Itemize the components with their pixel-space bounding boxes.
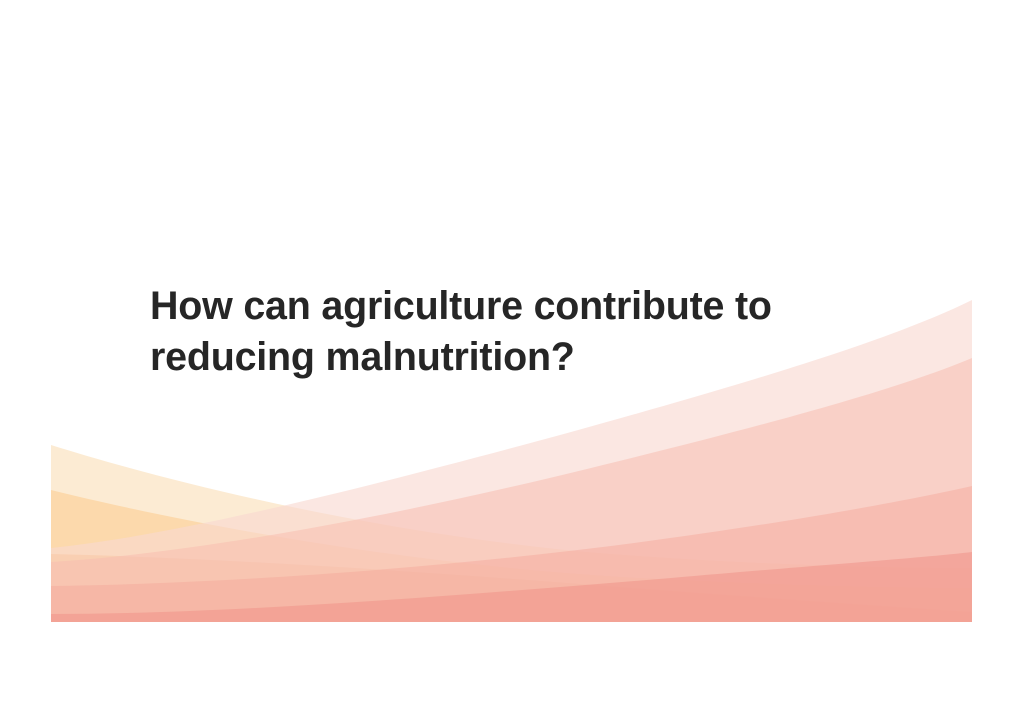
slide-title: How can agriculture contribute to reduci… [150, 281, 850, 383]
slide-canvas: How can agriculture contribute to reduci… [0, 0, 1024, 724]
title-line-2: reducing malnutrition? [150, 332, 840, 383]
title-line-1: How can agriculture contribute to [150, 281, 840, 332]
